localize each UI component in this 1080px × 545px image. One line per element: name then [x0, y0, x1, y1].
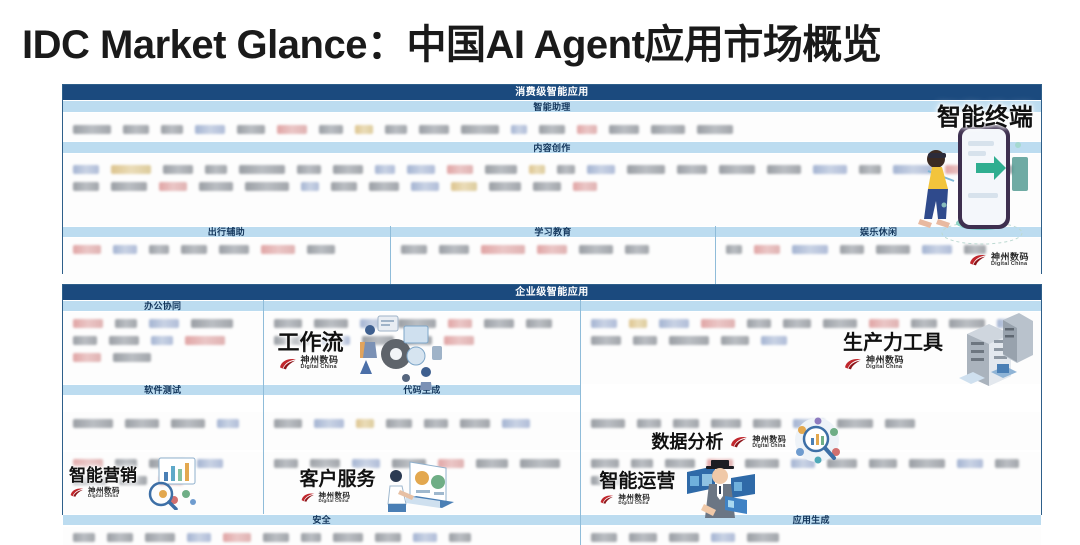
vendor-logo [386, 419, 412, 428]
vendor-logo [171, 419, 205, 428]
band-learning-education: 学习教育 [391, 226, 716, 238]
vendor-logo [885, 419, 915, 428]
marketing-chart-art [141, 456, 203, 510]
market-glance-page: IDC Market Glance：中国AI Agent应用市场概览 消费级智能… [0, 0, 1080, 525]
brand-name-en: Digital China [88, 494, 120, 499]
enterprise-column-productivity: 生产力工具 神州数码 Digital China [580, 300, 1041, 412]
vendor-logo [301, 533, 321, 542]
band-productivity-spacer [581, 300, 1041, 312]
vendor-logo [239, 165, 285, 174]
vendor-logo [407, 165, 435, 174]
vendor-logo [859, 165, 881, 174]
enterprise-column-workflow: 代码生成 工作流 神州数码 Digital China [263, 300, 581, 412]
laptop-dashboard-art [380, 456, 456, 518]
band-travel-assistance: 出行辅助 [63, 226, 390, 238]
vendor-logo [577, 125, 597, 134]
digital-china-wordmark: 神州数码 Digital China [319, 492, 351, 504]
vendor-logo [245, 182, 289, 191]
brand-name-en: Digital China [866, 365, 904, 371]
band-smart-assistant: 智能助理 [63, 100, 1041, 113]
vendor-logo [73, 165, 99, 174]
vendor-logo [627, 165, 665, 174]
vendor-logo [385, 125, 407, 134]
brand-name-en: Digital China [301, 365, 339, 371]
vendor-logo [149, 245, 169, 254]
vendor-logo [113, 353, 151, 362]
vendor-logo [413, 533, 437, 542]
vendor-logo [113, 245, 137, 254]
enterprise-column-office: 办公协同 软件测试 [63, 300, 263, 412]
vendor-logo [461, 125, 499, 134]
consumer-subcategory-row: 出行辅助 学习教育 [63, 226, 1041, 286]
callout-label-customer-service: 客户服务 [300, 470, 376, 490]
vendor-logo [573, 182, 597, 191]
vendor-logo [447, 165, 473, 174]
vendor-logo [111, 165, 151, 174]
vendor-logo [187, 533, 211, 542]
vendor-logo [761, 336, 787, 345]
logo-wall-software-testing [63, 412, 263, 450]
vendor-logo [995, 459, 1019, 468]
consumer-column-travel: 出行辅助 [63, 226, 390, 286]
vendor-logo [533, 182, 561, 191]
vendor-logo [444, 336, 474, 345]
vendor-logo [813, 165, 847, 174]
footer-logo-col-app-generation [580, 527, 1041, 545]
vendor-logo [185, 336, 225, 345]
vendor-logo [651, 125, 685, 134]
enterprise-applications-board: 企业级智能应用 办公协同 软件测试 [62, 284, 1042, 515]
vendor-logo [697, 125, 733, 134]
vendor-logo [307, 245, 335, 254]
brand-name-en: Digital China [618, 501, 650, 506]
digital-china-swirl-icon [968, 253, 988, 267]
logo-wall-content-creation [63, 154, 1041, 226]
enterprise-bottom-row: 智能营销 神州数码 Digital China [63, 452, 1041, 514]
vendor-logo [125, 419, 159, 428]
vendor-logo [557, 165, 575, 174]
vendor-logo [869, 459, 897, 468]
logo-wall-app-generation [581, 527, 1041, 545]
vendor-logo [609, 125, 639, 134]
callout-smart-terminal: 智能终端 [937, 105, 1033, 130]
footer-logo-col-security [63, 527, 580, 545]
vendor-logo [73, 245, 101, 254]
vendor-logo [297, 165, 321, 174]
vendor-logo [476, 459, 508, 468]
vendor-logo [356, 419, 374, 428]
vendor-logo [669, 533, 699, 542]
vendor-logo [587, 165, 615, 174]
vendor-logo [711, 533, 735, 542]
vendor-logo [909, 459, 945, 468]
logo-wall-education [391, 238, 716, 283]
vendor-logo [659, 319, 689, 328]
vendor-logo [73, 419, 113, 428]
vendor-logo [489, 182, 521, 191]
brand-logo-digital-china: 神州数码 Digital China [843, 356, 904, 371]
logo-wall-code-generation [264, 412, 581, 450]
brand-logo-digital-china: 神州数码 Digital China [599, 494, 650, 506]
vendor-logo [159, 182, 187, 191]
callout-smart-operations: 智能运营 神州数码 Digital China [599, 456, 759, 522]
vendor-logo [411, 182, 439, 191]
vendor-logo [747, 533, 779, 542]
page-title: IDC Market Glance：中国AI Agent应用市场概览 [22, 12, 881, 70]
vendor-logo [439, 245, 469, 254]
enterprise-midcol-analytics: 数据分析 神州数码 Digital China [580, 412, 1041, 452]
vendor-logo [957, 459, 983, 468]
vendor-logo [629, 533, 657, 542]
vendor-logo [73, 336, 97, 345]
vendor-logo [195, 125, 225, 134]
digital-china-swirl-icon [599, 494, 615, 505]
vendor-logo [331, 182, 357, 191]
vendor-logo [161, 125, 183, 134]
enterprise-bottom-bands: 安全 应用生成 [63, 514, 1041, 527]
digital-china-wordmark: 神州数码 Digital China [301, 356, 339, 371]
band-software-testing: 软件测试 [63, 384, 263, 396]
vendor-logo [526, 319, 552, 328]
vendor-logo [73, 182, 99, 191]
enterprise-botcol-service: 客户服务 神州数码 Digital China [263, 452, 581, 514]
band-workflow-spacer [264, 300, 581, 312]
vendor-logo [481, 245, 525, 254]
digital-china-swirl-icon [278, 357, 298, 371]
vendor-logo [401, 245, 427, 254]
consumer-applications-board: 消费级智能应用 智能助理 内容创作 [62, 84, 1042, 274]
vendor-logo [669, 336, 709, 345]
vendor-logo [369, 182, 399, 191]
vendor-logo [579, 245, 613, 254]
logo-wall-smart-assistant [63, 113, 1041, 141]
vendor-logo [701, 319, 735, 328]
vendor-logo [191, 319, 233, 328]
vendor-logo [73, 533, 95, 542]
digital-china-wordmark: 神州数码 Digital China [88, 487, 120, 499]
vendor-logo [163, 165, 193, 174]
vendor-logo [448, 319, 472, 328]
vendor-logo [484, 319, 514, 328]
band-content-creation: 内容创作 [63, 141, 1041, 154]
vendor-logo [629, 319, 647, 328]
vendor-logo [217, 419, 239, 428]
vendor-logo [485, 165, 517, 174]
vendor-logo [274, 459, 298, 468]
vendor-logo [529, 165, 545, 174]
vendor-logo [199, 182, 233, 191]
vendor-logo [502, 419, 530, 428]
vendor-logo [115, 319, 137, 328]
brand-name-en: Digital China [319, 499, 351, 504]
brand-logo-digital-china: 神州数码 Digital China [968, 253, 1029, 268]
vendor-logo [205, 165, 227, 174]
vendor-logo [145, 533, 175, 542]
vendor-logo [783, 319, 811, 328]
workflow-collage-art [348, 312, 444, 390]
vendor-logo [263, 533, 289, 542]
vendor-logo [355, 125, 373, 134]
vendor-logo [111, 182, 147, 191]
vendor-logo [539, 125, 565, 134]
callout-label-smart-terminal: 智能终端 [937, 105, 1033, 130]
brand-logo-digital-china: 神州数码 Digital China [729, 435, 786, 449]
enterprise-midcol-testing [63, 412, 263, 452]
vendor-logo [333, 165, 363, 174]
vendor-logo [726, 245, 742, 254]
vendor-logo [677, 165, 707, 174]
logo-wall-travel [63, 238, 390, 283]
vendor-logo [73, 353, 101, 362]
digital-china-wordmark: 神州数码 Digital China [618, 494, 650, 506]
brand-logo-digital-china: 神州数码 Digital China [278, 356, 339, 371]
vendor-logo [237, 125, 265, 134]
vendor-logo [375, 165, 395, 174]
vendor-logo [261, 245, 295, 254]
enterprise-midcol-codegen [263, 412, 581, 452]
vendor-logo [591, 533, 617, 542]
vendor-logo [314, 419, 344, 428]
vendor-logo [277, 125, 307, 134]
logo-wall-office [63, 312, 263, 384]
vendor-logo [754, 245, 780, 254]
vendor-logo [301, 182, 319, 191]
enterprise-section-header: 企业级智能应用 [63, 285, 1041, 300]
callout-label-data-analysis: 数据分析 [651, 433, 723, 452]
digital-china-wordmark: 神州数码 Digital China [752, 436, 786, 449]
magnifier-analytics-art [790, 416, 848, 468]
vendor-logo [109, 336, 139, 345]
vendor-logo [792, 245, 828, 254]
vendor-logo [149, 319, 179, 328]
vendor-logo [274, 419, 302, 428]
vendor-logo [107, 533, 133, 542]
brand-logo-digital-china: 神州数码 Digital China [300, 492, 351, 504]
vendor-logo [767, 165, 801, 174]
businessman-dashboard-art [679, 456, 759, 522]
vendor-logo [73, 319, 103, 328]
enterprise-upper-row: 办公协同 软件测试 [63, 300, 1041, 412]
vendor-logo [151, 336, 173, 345]
enterprise-footer-logos [63, 527, 1041, 545]
vendor-logo [520, 459, 560, 468]
vendor-logo [747, 319, 771, 328]
vendor-logo [460, 419, 490, 428]
callout-productivity-tools: 生产力工具 神州数码 Digital China [843, 312, 1033, 392]
vendor-logo [319, 125, 343, 134]
enterprise-botcol-marketing: 智能营销 神州数码 Digital China [63, 452, 263, 514]
digital-china-swirl-icon [300, 492, 316, 503]
vendor-logo [591, 336, 621, 345]
vendor-logo [419, 125, 449, 134]
digital-china-swirl-icon [729, 435, 749, 449]
callout-customer-service: 客户服务 神州数码 Digital China [300, 456, 456, 518]
vendor-logo [721, 336, 749, 345]
callout-workflow: 工作流 神州数码 Digital China [278, 312, 444, 390]
callout-smart-marketing: 智能营销 神州数码 Digital China [69, 456, 203, 510]
vendor-logo [451, 182, 477, 191]
vendor-logo [449, 533, 471, 542]
digital-china-swirl-icon [843, 357, 863, 371]
vendor-logo [375, 533, 401, 542]
vendor-logo [591, 319, 617, 328]
callout-label-smart-operations: 智能运营 [599, 472, 675, 492]
vendor-logo [537, 245, 567, 254]
vendor-logo [625, 245, 649, 254]
vendor-logo [840, 245, 864, 254]
vendor-logo [591, 419, 625, 428]
vendor-logo [424, 419, 448, 428]
vendor-logo [181, 245, 207, 254]
digital-china-swirl-icon [69, 487, 85, 498]
digital-china-wordmark: 神州数码 Digital China [866, 356, 904, 371]
callout-label-workflow: 工作流 [278, 331, 344, 354]
consumer-column-education: 学习教育 [390, 226, 716, 286]
band-office-collaboration: 办公协同 [63, 300, 263, 312]
digital-china-wordmark: 神州数码 Digital China [991, 253, 1029, 268]
vendor-logo [333, 533, 363, 542]
vendor-logo [719, 165, 755, 174]
server-rack-art [947, 312, 1033, 392]
callout-label-productivity-tools: 生产力工具 [843, 333, 943, 354]
brand-name-en: Digital China [752, 444, 786, 449]
enterprise-middle-row: 数据分析 神州数码 Digital China [63, 412, 1041, 452]
vendor-logo [73, 125, 111, 134]
vendor-logo [219, 245, 249, 254]
brand-name-en: Digital China [991, 262, 1029, 268]
vendor-logo [223, 533, 251, 542]
callout-label-smart-marketing: 智能营销 [69, 467, 137, 485]
vendor-logo [123, 125, 149, 134]
vendor-logo [633, 336, 657, 345]
vendor-logo [511, 125, 527, 134]
logo-wall-security [63, 527, 580, 545]
brand-logo-digital-china: 神州数码 Digital China [69, 487, 120, 499]
consumer-section-header: 消费级智能应用 [63, 85, 1041, 100]
